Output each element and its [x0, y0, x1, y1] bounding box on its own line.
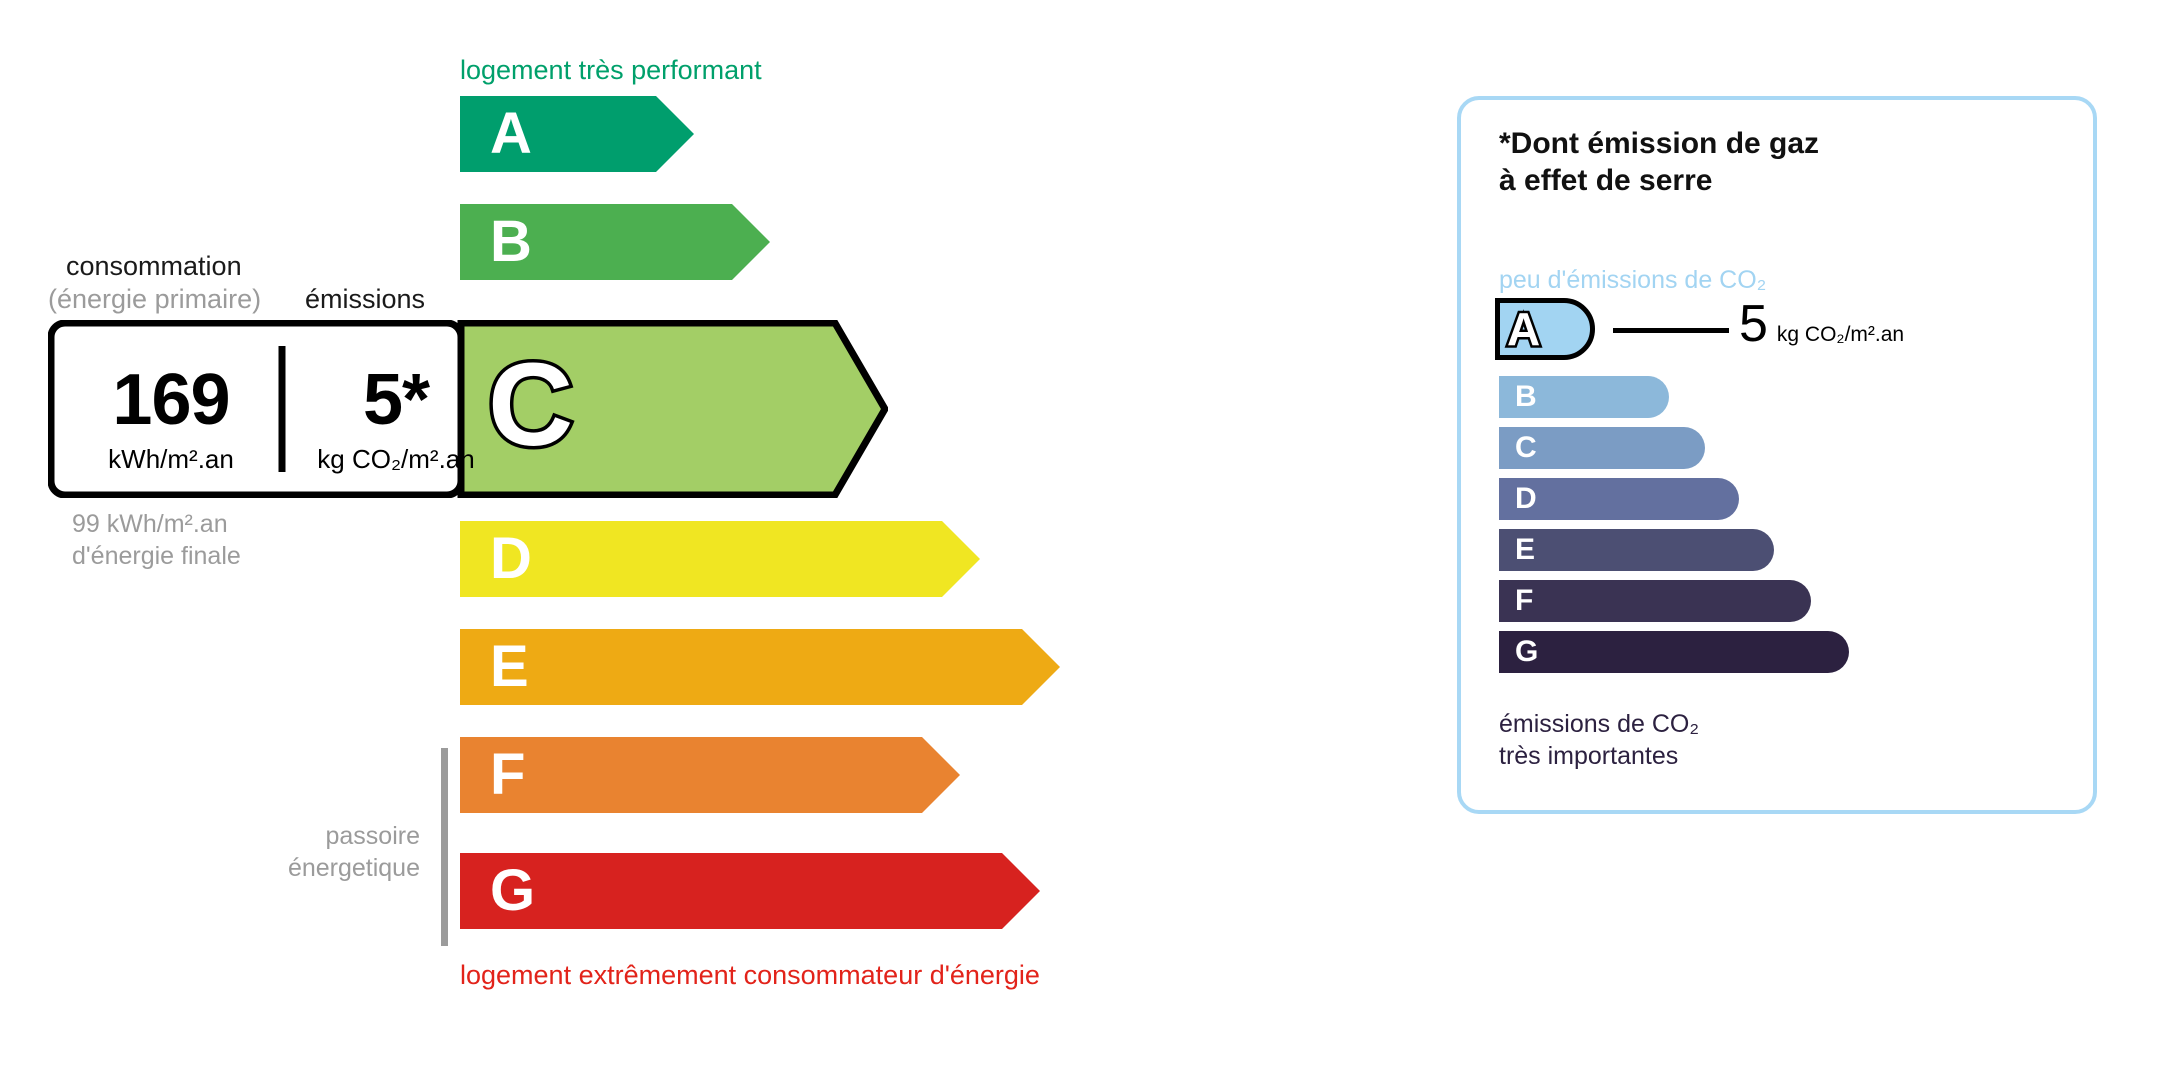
energy-band-f[interactable]: F: [460, 737, 960, 813]
emission-value-cell: 5* kg CO₂/m².an: [296, 364, 496, 472]
co2-bar-b-letter: B: [1515, 382, 1537, 412]
co2-bar-b[interactable]: B: [1499, 376, 1669, 418]
co2-bar-e-letter: E: [1515, 535, 1535, 565]
co2-bar-f-letter: F: [1515, 586, 1533, 616]
emission-unit: kg CO₂/m².an: [296, 446, 496, 472]
selected-class-letter: C: [488, 346, 573, 464]
band-f-shape: [460, 737, 960, 813]
energy-band-g[interactable]: G: [460, 853, 1040, 929]
co2-bar-a-letter: A: [1507, 306, 1540, 352]
consumption-unit: kWh/m².an: [66, 446, 276, 472]
ges-bottom-caption-line2: très importantes: [1499, 740, 1699, 772]
label-consommation: consommation: [66, 251, 242, 282]
consumption-number: 169: [66, 364, 276, 436]
ges-panel-title: *Dont émission de gaz à effet de serre: [1499, 126, 1819, 199]
ges-title-line2: à effet de serre: [1499, 163, 1819, 200]
final-energy-note: 99 kWh/m².an d'énergie finale: [72, 508, 241, 572]
final-energy-note-line1: 99 kWh/m².an: [72, 508, 241, 540]
ges-top-caption: peu d'émissions de CO₂: [1499, 266, 1766, 295]
band-e-shape: [460, 629, 1060, 705]
ges-co2-panel: *Dont émission de gaz à effet de serre p…: [1457, 96, 2097, 814]
co2-bar-f[interactable]: F: [1499, 580, 1811, 622]
selected-class-row[interactable]: 169 kWh/m².an 5* kg CO₂/m².an C: [48, 320, 888, 498]
energy-band-e[interactable]: E: [460, 629, 1060, 705]
energy-top-caption: logement très performant: [460, 55, 762, 86]
band-d-shape: [460, 521, 980, 597]
energy-band-b[interactable]: B: [460, 204, 770, 280]
dpe-energy-panel: logement très performant A B D E F: [0, 0, 1400, 1079]
co2-bar-a-selected[interactable]: A: [1495, 298, 1595, 360]
ges-title-line1: *Dont émission de gaz: [1499, 126, 1819, 163]
label-energie-primaire: (énergie primaire): [48, 284, 261, 315]
band-g-shape: [460, 853, 1040, 929]
final-energy-note-line2: d'énergie finale: [72, 540, 241, 572]
co2-bar-g[interactable]: G: [1499, 631, 1849, 673]
passoire-label-line2: énergetique: [150, 852, 420, 884]
energy-band-d[interactable]: D: [460, 521, 980, 597]
co2-bar-g-letter: G: [1515, 637, 1538, 667]
co2-value-readout: 5 kg CO₂/m².an: [1739, 298, 1904, 350]
co2-leader-line: [1613, 328, 1729, 333]
co2-bar-e[interactable]: E: [1499, 529, 1774, 571]
consumption-value-cell: 169 kWh/m².an: [66, 364, 276, 472]
energy-bottom-caption: logement extrêmement consommateur d'éner…: [460, 960, 1040, 991]
co2-bar-c[interactable]: C: [1499, 427, 1705, 469]
passoire-marker-bar: [441, 748, 448, 946]
co2-bar-c-letter: C: [1515, 433, 1537, 463]
band-a-shape: [460, 96, 694, 172]
ges-bottom-caption-line1: émissions de CO₂: [1499, 708, 1699, 740]
label-emissions: émissions: [305, 284, 425, 315]
co2-value-unit: kg CO₂/m².an: [1777, 324, 1904, 345]
co2-value-number: 5: [1739, 298, 1768, 350]
co2-bar-d[interactable]: D: [1499, 478, 1739, 520]
passoire-label: passoire énergetique: [150, 820, 420, 884]
energy-band-a[interactable]: A: [460, 96, 694, 172]
co2-bar-d-letter: D: [1515, 484, 1537, 514]
ges-bottom-caption: émissions de CO₂ très importantes: [1499, 708, 1699, 772]
emission-number: 5*: [296, 364, 496, 436]
band-b-shape: [460, 204, 770, 280]
passoire-label-line1: passoire: [150, 820, 420, 852]
